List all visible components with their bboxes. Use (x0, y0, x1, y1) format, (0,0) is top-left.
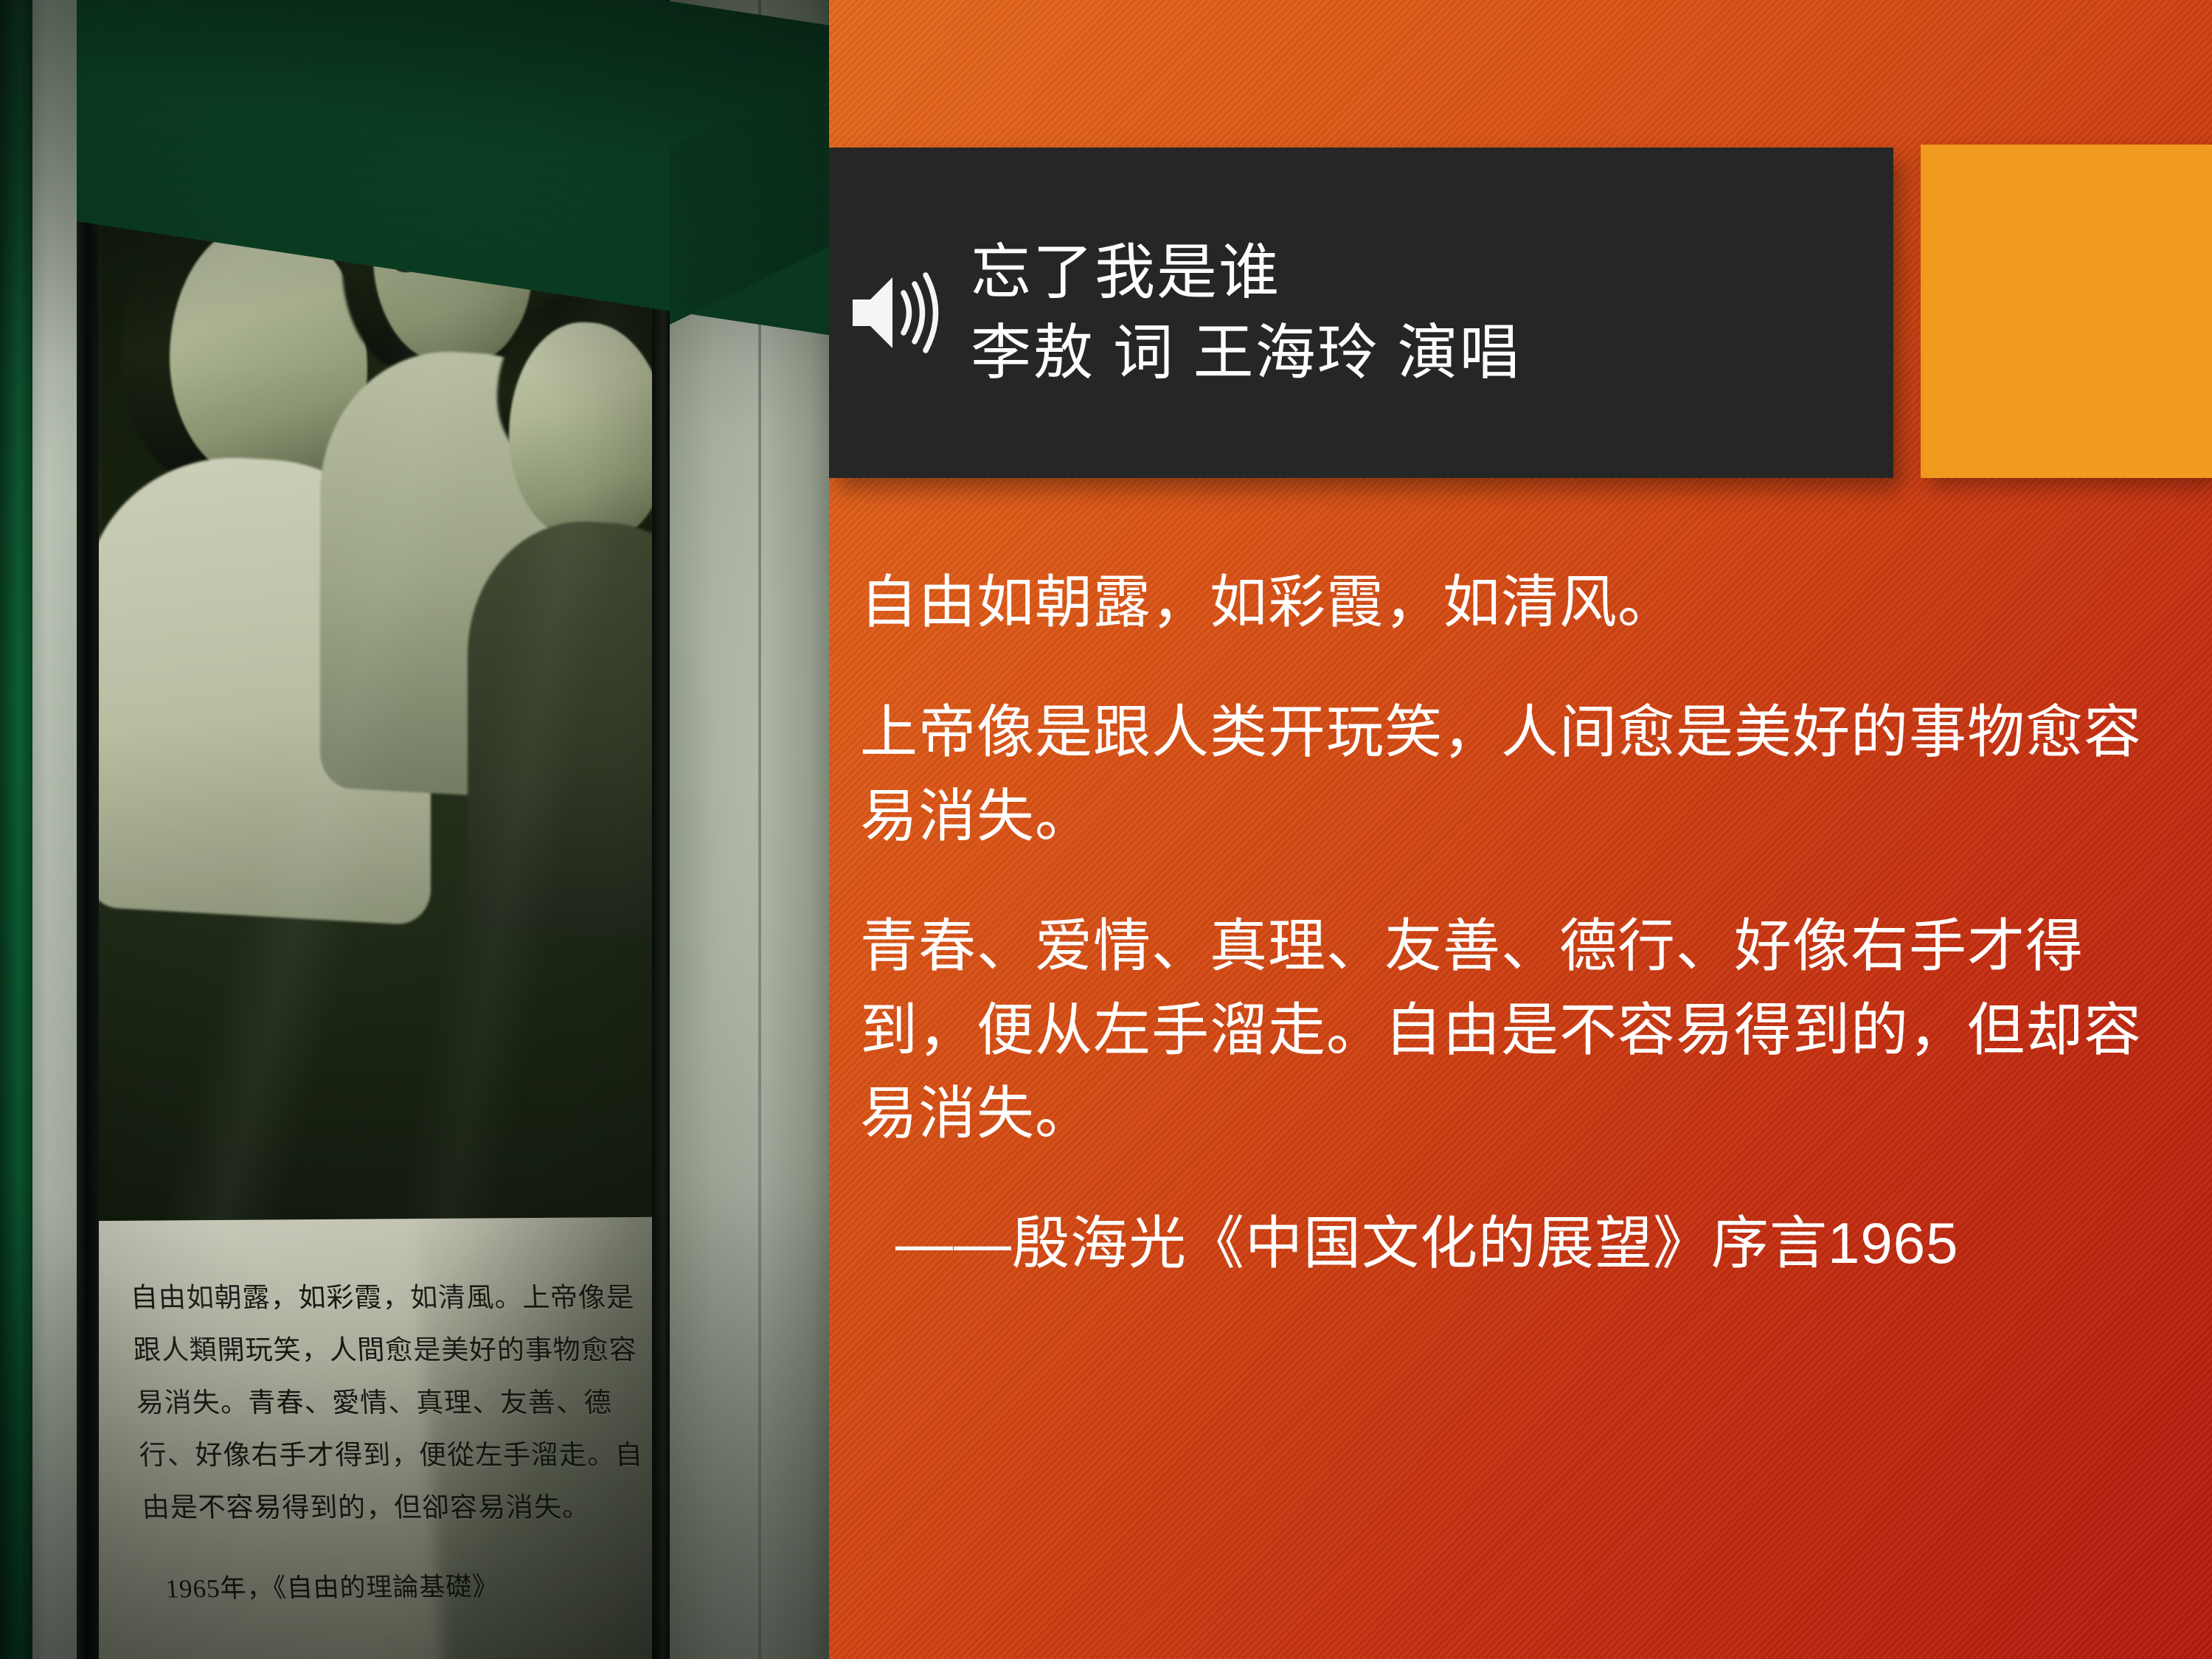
picture-frame-left-edge (77, 0, 99, 1659)
song-credits-line: 李敖 词 王海玲 演唱 (971, 313, 1521, 393)
quotation-body: 自由如朝露，如彩霞，如清风。 上帝像是跟人类开玩笑，人间愈是美好的事物愈容易消失… (860, 561, 2180, 1286)
print-caption-text: 自由如朝露，如彩霞，如清風。上帝像是跟人類開玩笑，人間愈是美好的事物愈容易消失。… (129, 1272, 652, 1534)
quote-paragraph-1: 自由如朝露，如彩霞，如清风。 (860, 561, 2180, 645)
accent-color-block (1921, 145, 2212, 478)
song-title-text: 忘了我是谁 李敖 词 王海玲 演唱 (971, 232, 1521, 393)
framed-photograph-image: 文物資料展 (0, 0, 829, 1659)
left-wall-shading (32, 0, 77, 1659)
content-panel: 忘了我是谁 李敖 词 王海玲 演唱 自由如朝露，如彩霞，如清风。 上帝像是跟人类… (829, 0, 2212, 1659)
print-caption-sheet: 自由如朝露，如彩霞，如清風。上帝像是跟人類開玩笑，人間愈是美好的事物愈容易消失。… (99, 1216, 652, 1659)
green-wall-shading (0, 0, 32, 1659)
quote-paragraph-3: 青春、爱情、真理、友善、德行、好像右手才得到，便从左手溜走。自由是不容易得到的，… (860, 904, 2180, 1157)
print-caption-source: 1965年，《自由的理論基礎》 (164, 1565, 500, 1605)
quote-paragraph-2: 上帝像是跟人类开玩笑，人间愈是美好的事物愈容易消失。 (860, 690, 2180, 859)
slide-canvas: 文物資料展 (0, 0, 2212, 1659)
song-title-line-1: 忘了我是谁 (971, 232, 1521, 313)
song-title-card[interactable]: 忘了我是谁 李敖 词 王海玲 演唱 (829, 148, 1893, 478)
quote-attribution: ——殷海光《中国文化的展望》序言1965 (860, 1202, 2180, 1286)
man-torso (468, 515, 652, 943)
speaker-sound-icon[interactable] (829, 257, 971, 368)
